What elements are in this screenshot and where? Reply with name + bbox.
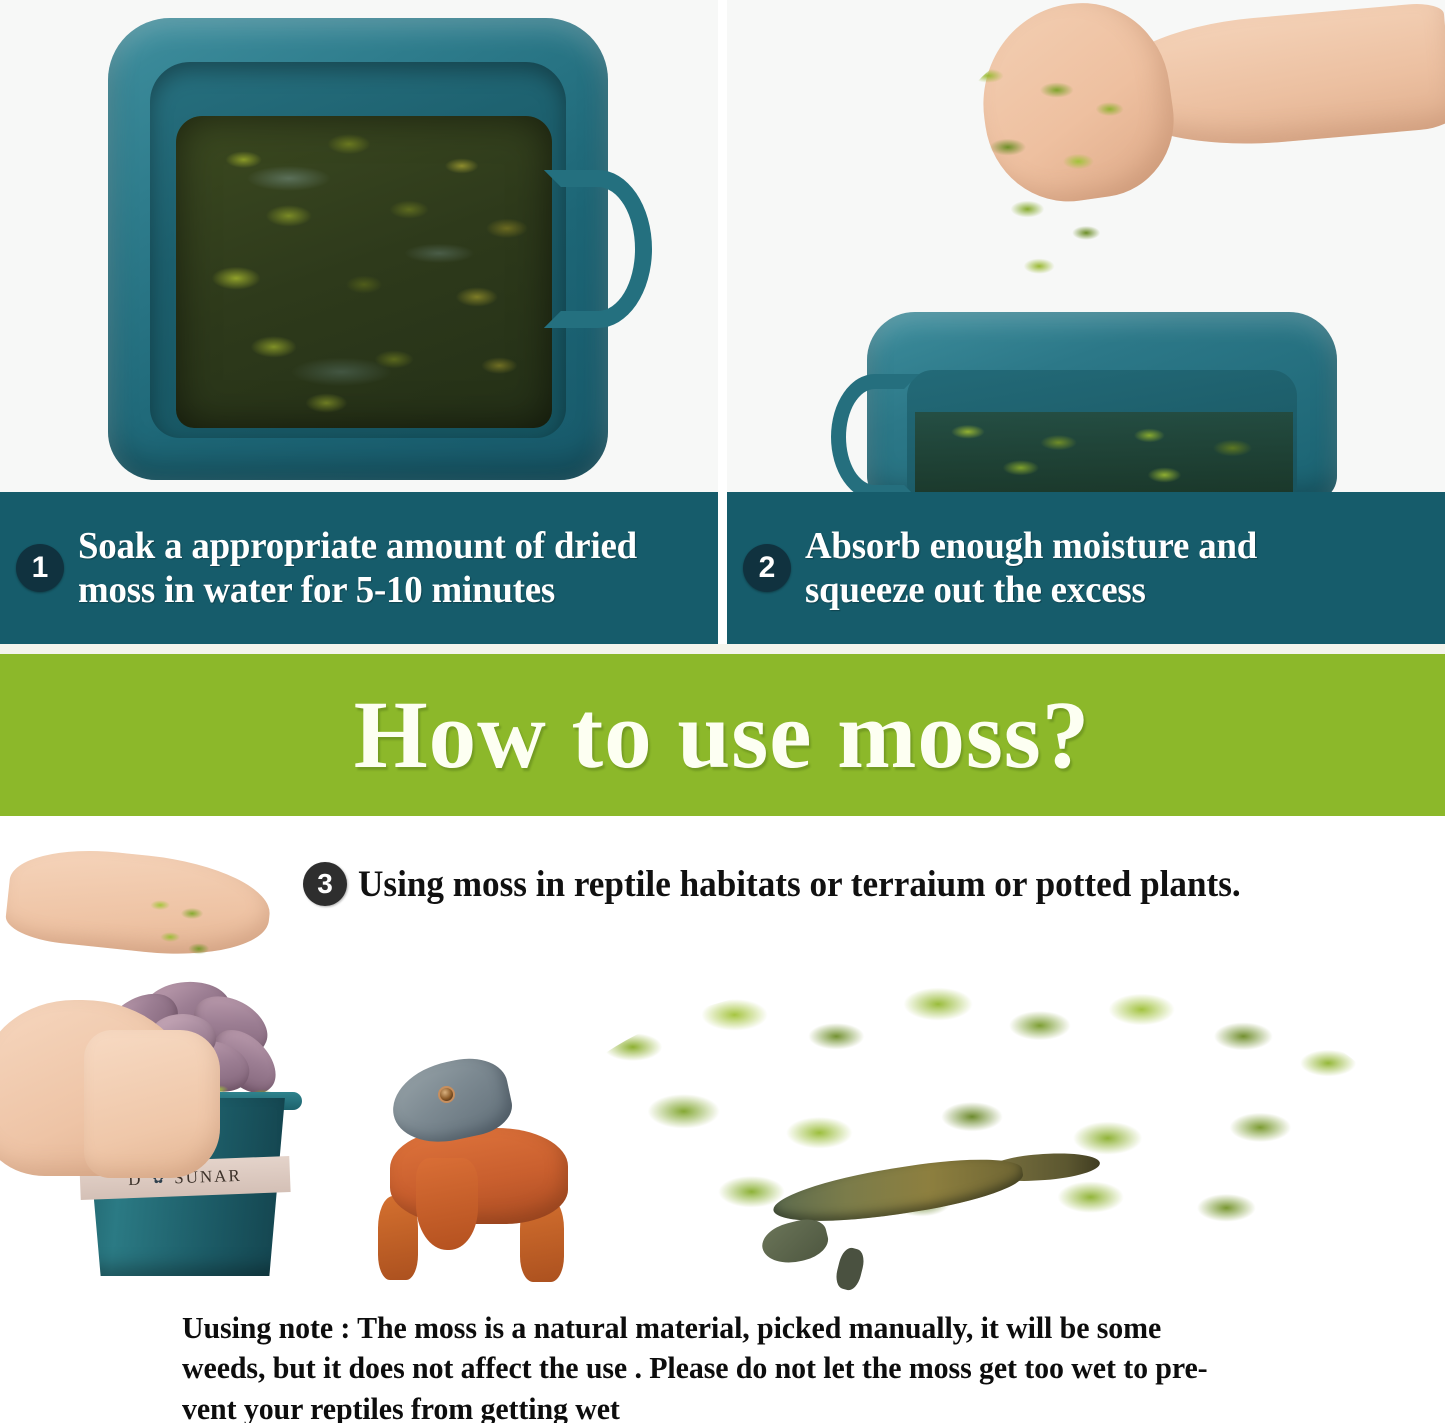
basin-teal	[108, 18, 608, 480]
step-3-text: Using moss in reptile habitats or terrai…	[358, 863, 1241, 906]
step-1: 1 Soak a appropriate amount of dried mos…	[0, 492, 718, 644]
step-2-text: Absorb enough moisture and squeeze out t…	[805, 524, 1257, 612]
title-banner: How to use moss?	[0, 654, 1445, 816]
step-3-badge: 3	[303, 862, 347, 906]
usage-note-line-2: weeds, but it does not affect the use . …	[182, 1348, 1272, 1388]
steps-divider	[718, 492, 727, 644]
iguana-dewlap	[416, 1158, 478, 1250]
step-1-line-1: Soak a appropriate amount of dried	[78, 524, 637, 568]
photo-squeeze-moss	[727, 0, 1445, 492]
step-2-line-1: Absorb enough moisture and	[805, 524, 1257, 568]
step-3: 3 Using moss in reptile habitats or terr…	[303, 862, 1287, 906]
basin-moss	[915, 412, 1293, 492]
usage-note-line-1: Uusing note : The moss is a natural mate…	[182, 1308, 1272, 1348]
step-2-line-2: squeeze out the excess	[805, 568, 1257, 612]
basin-interior	[150, 62, 566, 438]
iguana-eye	[438, 1086, 455, 1103]
usage-note-line-3: vent your reptiles from getting wet	[182, 1389, 1272, 1423]
step-1-line-2: moss in water for 5-10 minutes	[78, 568, 637, 612]
step-2-badge: 2	[743, 544, 791, 592]
infographic-page: 1 Soak a appropriate amount of dried mos…	[0, 0, 1445, 1423]
usage-note: Uusing note : The moss is a natural mate…	[182, 1308, 1272, 1423]
squeezed-moss	[949, 52, 1145, 290]
step-1-text: Soak a appropriate amount of dried moss …	[78, 524, 637, 612]
basin-teal-lower	[867, 312, 1337, 492]
hand-fingers	[84, 1030, 220, 1178]
photo-divider	[718, 0, 727, 492]
top-photo-row	[0, 0, 1445, 492]
section-gap	[0, 644, 1445, 654]
step-2: 2 Absorb enough moisture and squeeze out…	[727, 492, 1445, 644]
photo-soak-basin	[0, 0, 718, 492]
soaked-moss	[176, 116, 552, 428]
steps-row: 1 Soak a appropriate amount of dried mos…	[0, 492, 1445, 644]
page-title: How to use moss?	[354, 687, 1091, 783]
basin-interior-lower	[907, 370, 1297, 492]
step-1-badge: 1	[16, 544, 64, 592]
